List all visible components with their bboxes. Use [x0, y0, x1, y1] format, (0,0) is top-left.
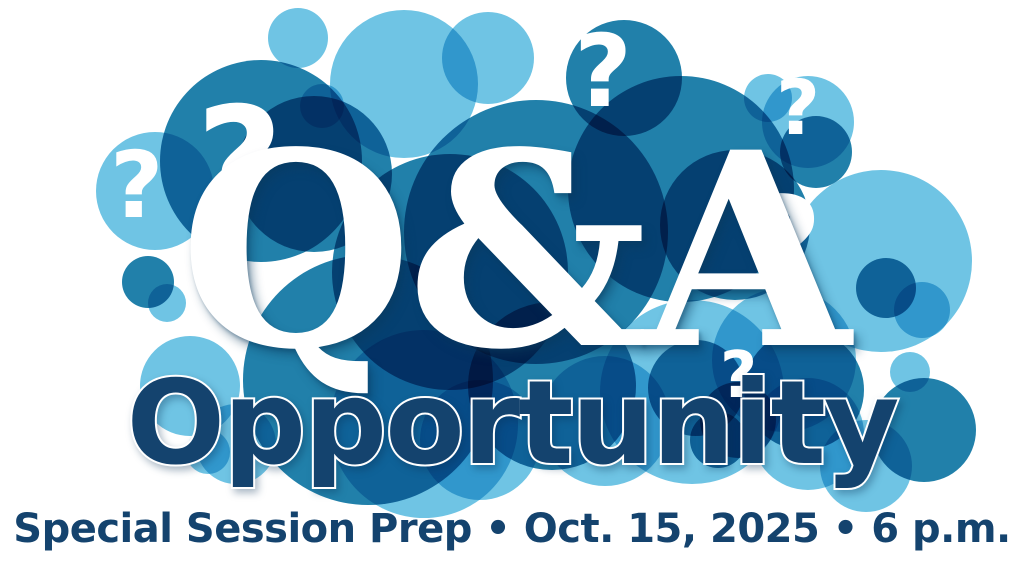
qa-opportunity-poster: ?????? Q&A Opportunity Special Session P… [0, 0, 1024, 576]
headline-opportunity: Opportunity [0, 366, 1024, 482]
bubble-circle [268, 8, 328, 68]
bubble-circle [442, 12, 534, 104]
headline-qa: Q&A [0, 118, 1024, 386]
subtitle-details: Special Session Prep • Oct. 15, 2025 • 6… [0, 505, 1024, 553]
